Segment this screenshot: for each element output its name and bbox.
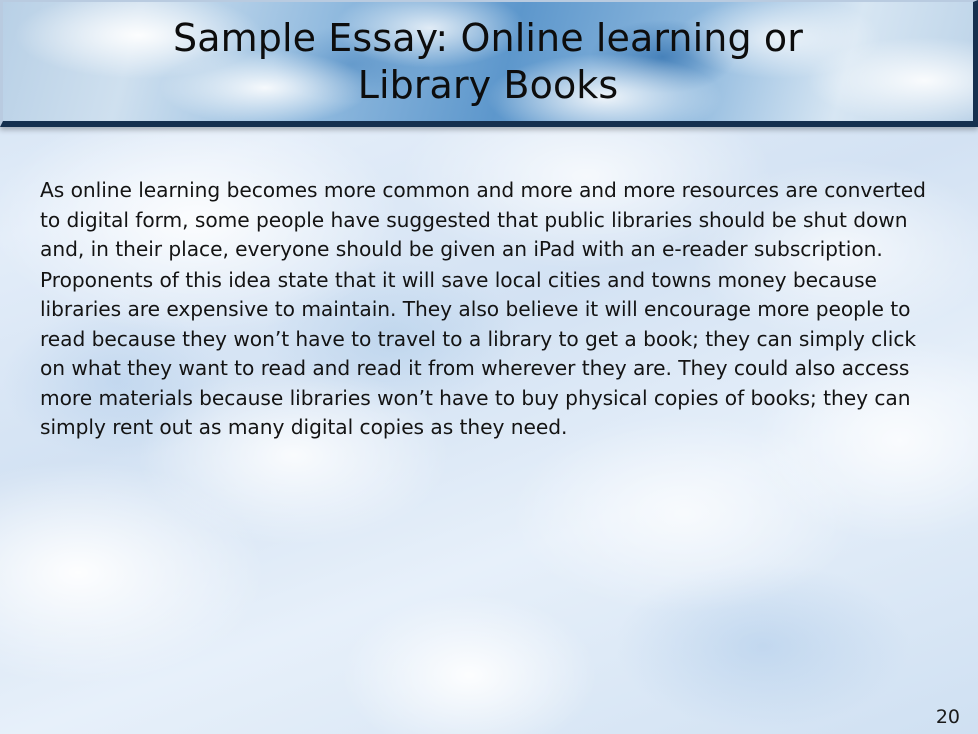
- body-paragraph-2: Proponents of this idea state that it wi…: [40, 266, 932, 443]
- slide-page-number: 20: [936, 706, 960, 728]
- body-paragraph-1: As online learning becomes more common a…: [40, 176, 932, 265]
- slide-title-banner: Sample Essay: Online learning or Library…: [0, 0, 978, 127]
- presentation-slide: Sample Essay: Online learning or Library…: [0, 0, 978, 734]
- slide-body-content: As online learning becomes more common a…: [40, 176, 932, 444]
- page-title: Sample Essay: Online learning or Library…: [3, 15, 973, 109]
